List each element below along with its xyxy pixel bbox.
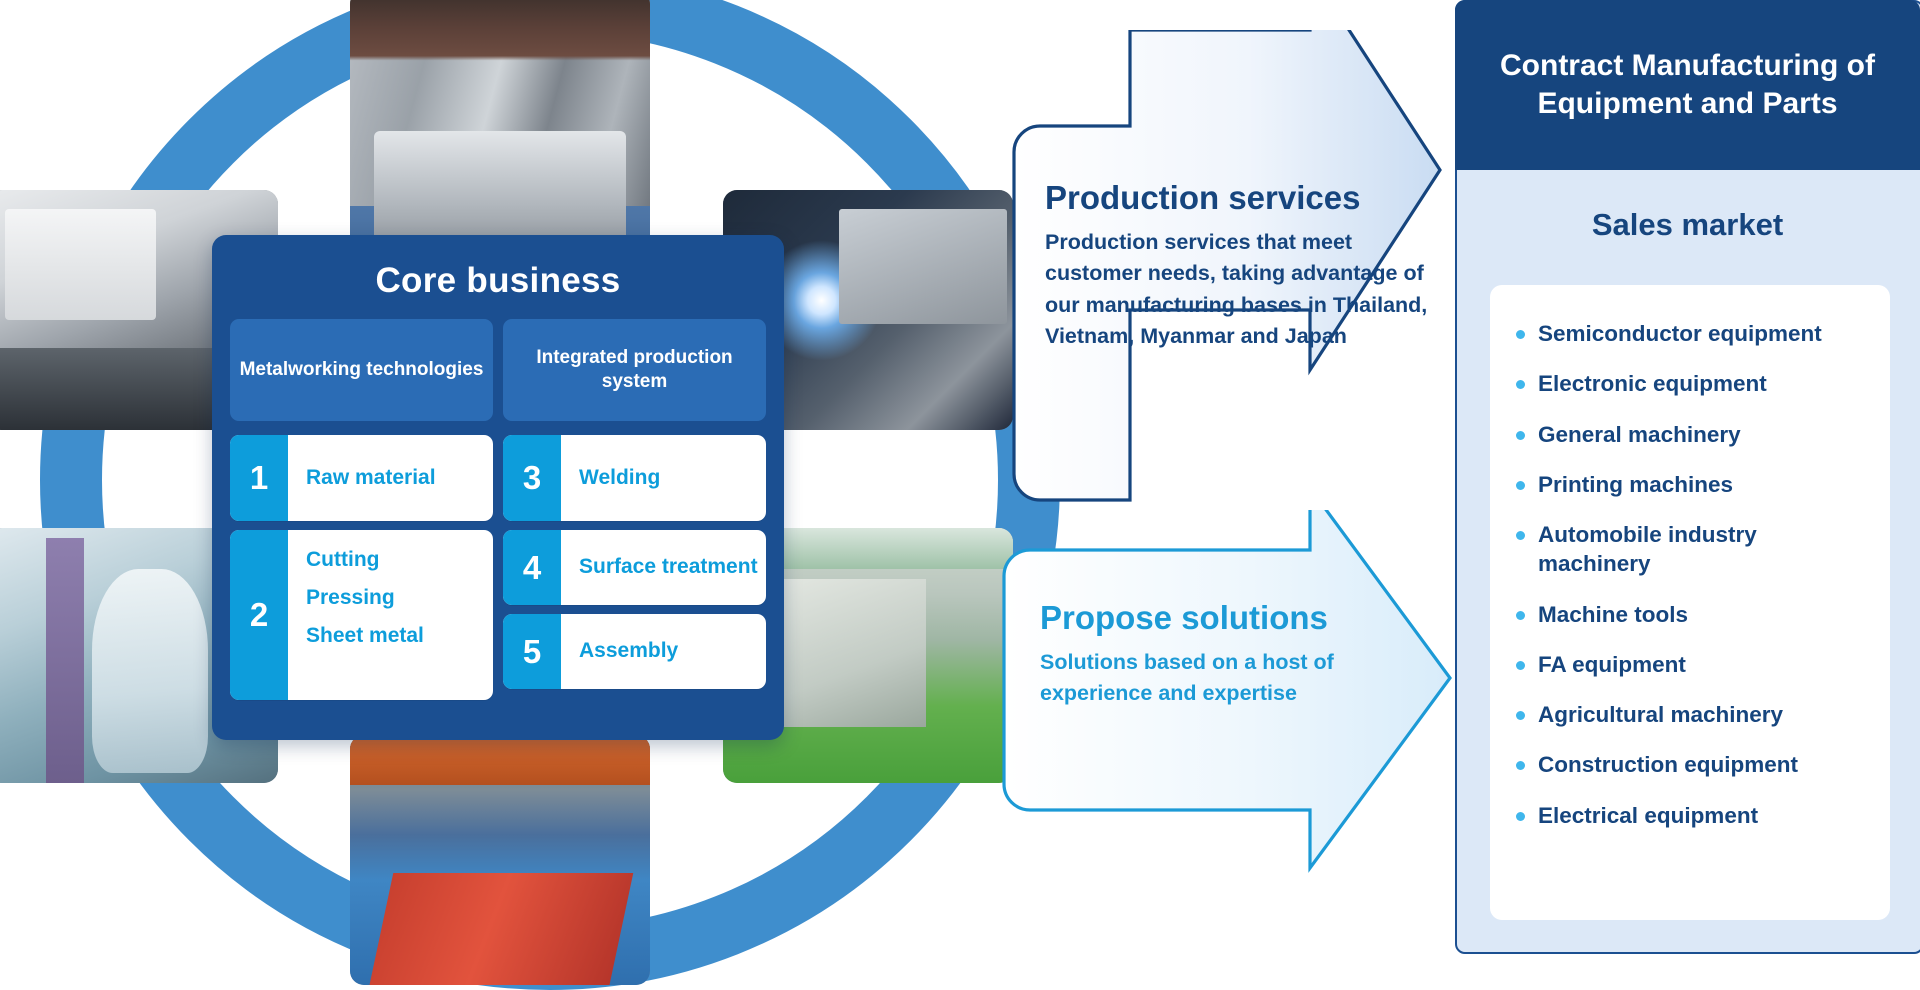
core-business-header-row: Metalworking technologies Integrated pro… [212,301,784,421]
propose-solutions-arrow [1000,510,1500,910]
step-label: Surface treatment [561,530,766,605]
steps-column-right: 3 Welding 4 Surface treatment 5 Assembly [503,435,766,700]
step-label: Welding [561,435,766,521]
list-item: Electrical equipment [1516,801,1868,830]
propose-solutions-message: Propose solutions Solutions based on a h… [1040,600,1420,710]
step-label: Raw material [288,435,493,521]
list-item: FA equipment [1516,650,1868,679]
diagram-canvas: Core business Metalworking technologies … [0,0,1920,960]
step-label-group: Cutting Pressing Sheet metal [288,530,493,700]
core-business-steps: 1 Raw material 2 Cutting Pressing Sheet … [212,421,784,718]
bullet-dot-icon [1516,481,1525,490]
bullet-dot-icon [1516,711,1525,720]
bullet-dot-icon [1516,531,1525,540]
contract-manufacturing-header: Contract Manufacturing of Equipment and … [1455,0,1920,170]
photo-assembly-plant-floor [350,735,650,985]
step-label: Assembly [561,614,766,689]
market-label: Automobile industry machinery [1538,520,1868,579]
step-label-line: Sheet metal [306,622,424,650]
step-number: 2 [230,530,288,700]
contract-manufacturing-title: Contract Manufacturing of Equipment and … [1455,47,1920,123]
step-1-raw-material: 1 Raw material [230,435,493,521]
list-item: Printing machines [1516,470,1868,499]
list-item: Electronic equipment [1516,369,1868,398]
production-services-body: Production services that meet customer n… [1045,227,1435,353]
header-metalworking-technologies: Metalworking technologies [230,319,493,421]
sales-market-title: Sales market [1455,170,1920,280]
market-label: Construction equipment [1538,750,1798,779]
list-item: Semiconductor equipment [1516,319,1868,348]
propose-solutions-body: Solutions based on a host of experience … [1040,647,1420,710]
list-item: General machinery [1516,420,1868,449]
core-business-cluster: Core business Metalworking technologies … [0,0,1010,960]
market-label: Machine tools [1538,600,1688,629]
market-label: Printing machines [1538,470,1733,499]
bullet-dot-icon [1516,611,1525,620]
propose-solutions-title: Propose solutions [1040,600,1420,637]
step-number: 3 [503,435,561,521]
market-label: Electronic equipment [1538,369,1767,398]
step-label-line: Pressing [306,584,395,612]
list-item: Machine tools [1516,600,1868,629]
core-business-card: Core business Metalworking technologies … [212,235,784,740]
bullet-dot-icon [1516,380,1525,389]
bullet-dot-icon [1516,431,1525,440]
step-number: 1 [230,435,288,521]
step-4-surface-treatment: 4 Surface treatment [503,530,766,605]
market-label: FA equipment [1538,650,1686,679]
list-item: Agricultural machinery [1516,700,1868,729]
bullet-dot-icon [1516,661,1525,670]
bullet-dot-icon [1516,812,1525,821]
step-number: 4 [503,530,561,605]
market-label: Semiconductor equipment [1538,319,1822,348]
bullet-dot-icon [1516,330,1525,339]
list-item: Construction equipment [1516,750,1868,779]
bullet-dot-icon [1516,761,1525,770]
steps-column-left: 1 Raw material 2 Cutting Pressing Sheet … [230,435,493,700]
market-label: Agricultural machinery [1538,700,1783,729]
header-integrated-production-system: Integrated production system [503,319,766,421]
market-label: General machinery [1538,420,1741,449]
list-item: Automobile industry machinery [1516,520,1868,579]
production-services-title: Production services [1045,180,1435,217]
core-business-title: Core business [212,235,784,301]
sales-market-list: Semiconductor equipment Electronic equip… [1490,285,1890,920]
production-services-message: Production services Production services … [1045,180,1435,352]
step-label-line: Cutting [306,546,379,574]
step-3-welding: 3 Welding [503,435,766,521]
step-number: 5 [503,614,561,689]
market-label: Electrical equipment [1538,801,1758,830]
step-5-assembly: 5 Assembly [503,614,766,689]
step-2-cutting-pressing-sheet-metal: 2 Cutting Pressing Sheet metal [230,530,493,700]
